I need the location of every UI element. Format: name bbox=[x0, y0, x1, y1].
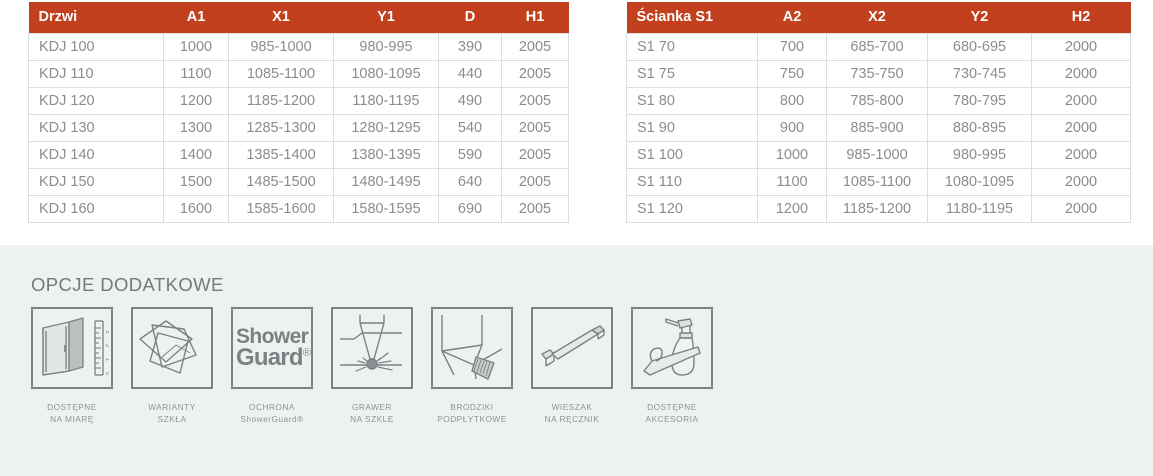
cell-model: S1 110 bbox=[627, 168, 758, 195]
cell-model: KDJ 150 bbox=[29, 168, 164, 195]
table-row: S1 110 1100 1085-1100 1080-1095 2000 bbox=[627, 168, 1131, 195]
cell-x1: 1385-1400 bbox=[229, 141, 334, 168]
glass-panes-icon bbox=[131, 307, 213, 389]
column-header-a1: A1 bbox=[164, 2, 229, 33]
option-item-engraving[interactable]: GRAWER NA SZKLE bbox=[331, 307, 413, 425]
cell-h2: 2000 bbox=[1032, 195, 1131, 222]
table-row: S1 75 750 735-750 730-745 2000 bbox=[627, 60, 1131, 87]
towel-rail-icon bbox=[531, 307, 613, 389]
table-row: KDJ 110 1100 1085-1100 1080-1095 440 200… bbox=[29, 60, 569, 87]
cell-model: S1 100 bbox=[627, 141, 758, 168]
cell-a2: 800 bbox=[758, 87, 827, 114]
cell-a2: 900 bbox=[758, 114, 827, 141]
cell-a1: 1100 bbox=[164, 60, 229, 87]
cell-h2: 2000 bbox=[1032, 168, 1131, 195]
option-label: BRODZIKI PODPŁYTKOWE bbox=[437, 401, 507, 425]
cell-y2: 680-695 bbox=[928, 33, 1032, 60]
shower-cabin-ruler-icon: 3 2 1 0 bbox=[31, 307, 113, 389]
cell-d: 640 bbox=[439, 168, 502, 195]
option-label: DOSTĘPNE NA MIARĘ bbox=[47, 401, 97, 425]
column-header-h2: H2 bbox=[1032, 2, 1131, 33]
cell-a2: 750 bbox=[758, 60, 827, 87]
additional-options-panel: OPCJE DODATKOWE bbox=[0, 245, 1153, 476]
option-label: WARIANTY SZKŁA bbox=[148, 401, 195, 425]
column-header-y1: Y1 bbox=[334, 2, 439, 33]
cell-y2: 980-995 bbox=[928, 141, 1032, 168]
table-row: KDJ 160 1600 1585-1600 1580-1595 690 200… bbox=[29, 195, 569, 222]
cell-h1: 2005 bbox=[502, 87, 569, 114]
cell-model: KDJ 130 bbox=[29, 114, 164, 141]
svg-text:1: 1 bbox=[104, 358, 109, 362]
cell-h1: 2005 bbox=[502, 114, 569, 141]
option-label: OCHRONA ShowerGuard® bbox=[240, 401, 303, 425]
table-row: KDJ 150 1500 1485-1500 1480-1495 640 200… bbox=[29, 168, 569, 195]
table-row: KDJ 130 1300 1285-1300 1280-1295 540 200… bbox=[29, 114, 569, 141]
option-item-showerguard[interactable]: Shower Guard® OCHRONA ShowerGuard® bbox=[231, 307, 313, 425]
cell-x2: 1085-1100 bbox=[827, 168, 928, 195]
spray-bottle-squeegee-icon bbox=[631, 307, 713, 389]
cell-d: 440 bbox=[439, 60, 502, 87]
option-label: GRAWER NA SZKLE bbox=[350, 401, 394, 425]
cell-h1: 2005 bbox=[502, 168, 569, 195]
column-header-d: D bbox=[439, 2, 502, 33]
table-row: S1 70 700 685-700 680-695 2000 bbox=[627, 33, 1131, 60]
cell-y1: 1380-1395 bbox=[334, 141, 439, 168]
registered-mark: ® bbox=[303, 347, 310, 359]
cell-x2: 735-750 bbox=[827, 60, 928, 87]
cell-a1: 1200 bbox=[164, 87, 229, 114]
svg-text:2: 2 bbox=[104, 344, 109, 348]
shower-tray-drain-icon bbox=[431, 307, 513, 389]
section-title: OPCJE DODATKOWE bbox=[31, 274, 224, 296]
cell-y1: 1480-1495 bbox=[334, 168, 439, 195]
option-item-shower-trays[interactable]: BRODZIKI PODPŁYTKOWE bbox=[431, 307, 513, 425]
cell-x1: 1285-1300 bbox=[229, 114, 334, 141]
cell-d: 390 bbox=[439, 33, 502, 60]
specification-tables: Drzwi A1 X1 Y1 D H1 KDJ 100 1000 985-100… bbox=[0, 0, 1153, 245]
table-row: S1 120 1200 1185-1200 1180-1195 2000 bbox=[627, 195, 1131, 222]
cell-a1: 1300 bbox=[164, 114, 229, 141]
svg-text:0: 0 bbox=[104, 372, 109, 376]
cell-model: KDJ 110 bbox=[29, 60, 164, 87]
cell-x1: 1085-1100 bbox=[229, 60, 334, 87]
cell-model: S1 75 bbox=[627, 60, 758, 87]
table-header-row: Drzwi A1 X1 Y1 D H1 bbox=[29, 2, 569, 33]
cell-model: KDJ 140 bbox=[29, 141, 164, 168]
option-item-towel-rail[interactable]: WIESZAK NA RĘCZNIK bbox=[531, 307, 613, 425]
cell-model: KDJ 160 bbox=[29, 195, 164, 222]
column-header-drzwi: Drzwi bbox=[29, 2, 164, 33]
cell-y2: 1180-1195 bbox=[928, 195, 1032, 222]
showerguard-logo-bottom: Guard bbox=[236, 344, 303, 371]
cell-model: KDJ 120 bbox=[29, 87, 164, 114]
cell-model: S1 80 bbox=[627, 87, 758, 114]
cell-y1: 1280-1295 bbox=[334, 114, 439, 141]
cell-a1: 1000 bbox=[164, 33, 229, 60]
cell-a1: 1600 bbox=[164, 195, 229, 222]
cell-x1: 985-1000 bbox=[229, 33, 334, 60]
svg-text:3: 3 bbox=[104, 330, 109, 334]
cell-x2: 985-1000 bbox=[827, 141, 928, 168]
options-icon-row: 3 2 1 0 DOSTĘPNE NA MIARĘ bbox=[31, 307, 713, 425]
cell-a2: 1000 bbox=[758, 141, 827, 168]
cell-y2: 880-895 bbox=[928, 114, 1032, 141]
cell-a2: 700 bbox=[758, 33, 827, 60]
cell-y2: 1080-1095 bbox=[928, 168, 1032, 195]
cell-d: 540 bbox=[439, 114, 502, 141]
cell-y1: 1180-1195 bbox=[334, 87, 439, 114]
table-row: S1 80 800 785-800 780-795 2000 bbox=[627, 87, 1131, 114]
cell-x2: 1185-1200 bbox=[827, 195, 928, 222]
cell-x2: 885-900 bbox=[827, 114, 928, 141]
cell-x1: 1585-1600 bbox=[229, 195, 334, 222]
showerguard-logo-icon: Shower Guard® bbox=[231, 307, 313, 389]
cell-x2: 785-800 bbox=[827, 87, 928, 114]
option-item-glass-variants[interactable]: WARIANTY SZKŁA bbox=[131, 307, 213, 425]
cell-y1: 1080-1095 bbox=[334, 60, 439, 87]
spec-sheet-page: Drzwi A1 X1 Y1 D H1 KDJ 100 1000 985-100… bbox=[0, 0, 1153, 476]
cell-h1: 2005 bbox=[502, 60, 569, 87]
cell-x1: 1185-1200 bbox=[229, 87, 334, 114]
cell-d: 490 bbox=[439, 87, 502, 114]
cell-h1: 2005 bbox=[502, 141, 569, 168]
cell-model: S1 120 bbox=[627, 195, 758, 222]
column-header-x1: X1 bbox=[229, 2, 334, 33]
wall-table: Ścianka S1 A2 X2 Y2 H2 S1 70 700 685-700… bbox=[626, 2, 1131, 223]
table-row: S1 90 900 885-900 880-895 2000 bbox=[627, 114, 1131, 141]
cell-model: KDJ 100 bbox=[29, 33, 164, 60]
option-label: WIESZAK NA RĘCZNIK bbox=[545, 401, 600, 425]
cell-x2: 685-700 bbox=[827, 33, 928, 60]
cell-a2: 1100 bbox=[758, 168, 827, 195]
engraver-tool-icon bbox=[331, 307, 413, 389]
option-label: DOSTĘPNE AKCESORIA bbox=[646, 401, 699, 425]
column-header-h1: H1 bbox=[502, 2, 569, 33]
cell-h2: 2000 bbox=[1032, 60, 1131, 87]
cell-a1: 1500 bbox=[164, 168, 229, 195]
cell-y2: 730-745 bbox=[928, 60, 1032, 87]
cell-model: S1 90 bbox=[627, 114, 758, 141]
cell-y2: 780-795 bbox=[928, 87, 1032, 114]
cell-a1: 1400 bbox=[164, 141, 229, 168]
cell-model: S1 70 bbox=[627, 33, 758, 60]
cell-h1: 2005 bbox=[502, 195, 569, 222]
column-header-a2: A2 bbox=[758, 2, 827, 33]
cell-h2: 2000 bbox=[1032, 87, 1131, 114]
doors-table: Drzwi A1 X1 Y1 D H1 KDJ 100 1000 985-100… bbox=[28, 2, 569, 223]
option-item-made-to-measure[interactable]: 3 2 1 0 DOSTĘPNE NA MIARĘ bbox=[31, 307, 113, 425]
table-row: KDJ 120 1200 1185-1200 1180-1195 490 200… bbox=[29, 87, 569, 114]
cell-h1: 2005 bbox=[502, 33, 569, 60]
cell-d: 590 bbox=[439, 141, 502, 168]
cell-y1: 980-995 bbox=[334, 33, 439, 60]
table-row: KDJ 140 1400 1385-1400 1380-1395 590 200… bbox=[29, 141, 569, 168]
cell-h2: 2000 bbox=[1032, 33, 1131, 60]
table-row: KDJ 100 1000 985-1000 980-995 390 2005 bbox=[29, 33, 569, 60]
column-header-x2: X2 bbox=[827, 2, 928, 33]
table-row: S1 100 1000 985-1000 980-995 2000 bbox=[627, 141, 1131, 168]
cell-h2: 2000 bbox=[1032, 114, 1131, 141]
cell-h2: 2000 bbox=[1032, 141, 1131, 168]
cell-x1: 1485-1500 bbox=[229, 168, 334, 195]
cell-d: 690 bbox=[439, 195, 502, 222]
cell-a2: 1200 bbox=[758, 195, 827, 222]
cell-y1: 1580-1595 bbox=[334, 195, 439, 222]
column-header-y2: Y2 bbox=[928, 2, 1032, 33]
option-item-accessories[interactable]: DOSTĘPNE AKCESORIA bbox=[631, 307, 713, 425]
column-header-scianka: Ścianka S1 bbox=[627, 2, 758, 33]
table-header-row: Ścianka S1 A2 X2 Y2 H2 bbox=[627, 2, 1131, 33]
